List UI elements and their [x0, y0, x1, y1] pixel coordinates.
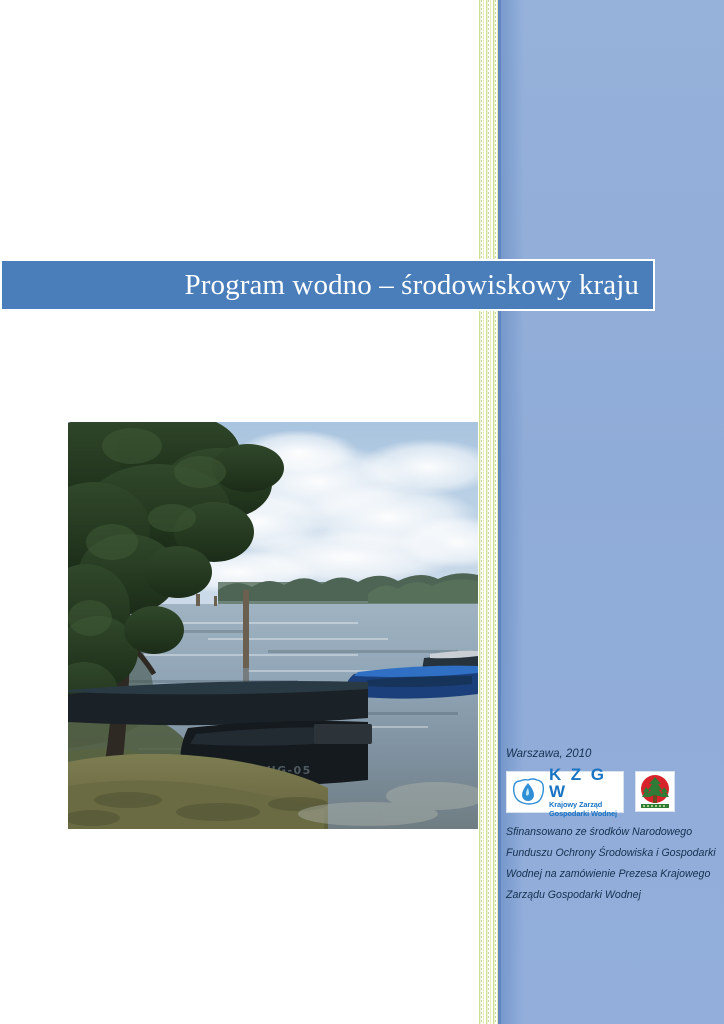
- logo-row: K Z G W Krajowy Zarząd Gospodarki Wodnej: [506, 771, 720, 813]
- place-and-date: Warszawa, 2010: [506, 748, 720, 762]
- kzgw-acronym: K Z G W: [549, 766, 620, 800]
- kzgw-logo: K Z G W Krajowy Zarząd Gospodarki Wodnej: [506, 771, 624, 813]
- cover-page: PB-AUG-05 Program wodno – środowiskowy k…: [0, 0, 724, 1024]
- funding-note-line: Sfinansowano ze środków Narodowego: [506, 822, 720, 843]
- funding-note: Sfinansowano ze środków Narodowego Fundu…: [506, 822, 720, 907]
- nfosigw-logo: [635, 771, 675, 812]
- cover-title-banner: Program wodno – środowiskowy kraju: [0, 259, 655, 311]
- cover-footer: Warszawa, 2010 K Z G W Krajowy Zarząd Go…: [506, 748, 720, 907]
- stripe-dot-column: [488, 0, 489, 1024]
- poland-map-with-water-drop-icon: [510, 774, 546, 810]
- funding-note-line: Funduszu Ochrony Środowiska i Gospodarki: [506, 843, 720, 864]
- kzgw-subtitle-line-1: Krajowy Zarząd: [549, 801, 620, 808]
- kzgw-wordmark: K Z G W Krajowy Zarząd Gospodarki Wodnej: [549, 766, 620, 818]
- cover-photo: PB-AUG-05: [68, 422, 478, 829]
- stripe-dot-column: [481, 0, 482, 1024]
- vertical-stripe-band: [478, 0, 498, 1024]
- funding-note-line: Wodnej na zamówienie Prezesa Krajowego: [506, 864, 720, 885]
- funding-note-line: Zarządu Gospodarki Wodnej: [506, 885, 720, 906]
- page-title: Program wodno – środowiskowy kraju: [185, 271, 639, 300]
- stripe-dot-column: [495, 0, 496, 1024]
- kzgw-subtitle-line-2: Gospodarki Wodnej: [549, 810, 620, 817]
